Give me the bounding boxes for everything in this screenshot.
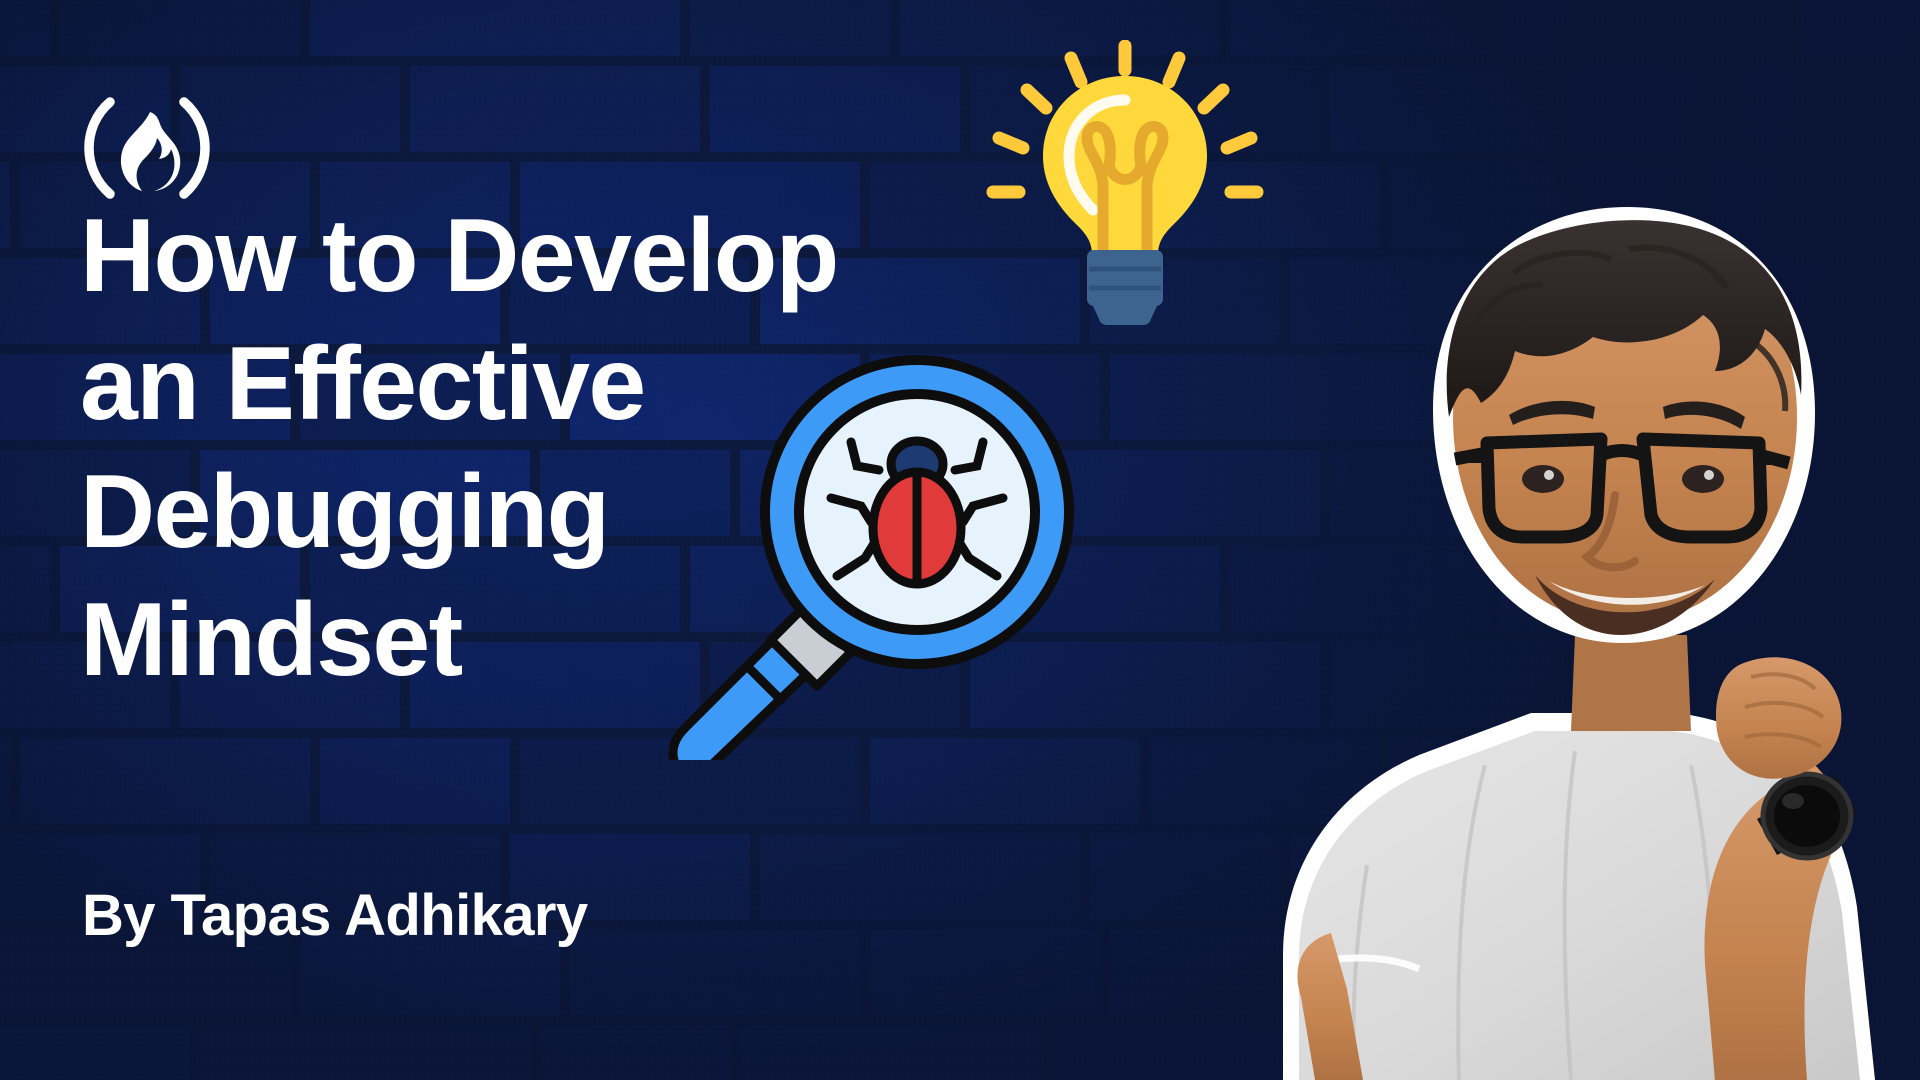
freecodecamp-flame-logo[interactable] bbox=[72, 96, 222, 200]
title-line-1: How to Develop bbox=[80, 192, 1020, 320]
neck bbox=[1571, 635, 1691, 731]
author-portrait bbox=[1015, 165, 1920, 1080]
article-banner: How to Develop an Effective Debugging Mi… bbox=[0, 0, 1920, 1080]
author-byline: By Tapas Adhikary bbox=[82, 880, 588, 952]
